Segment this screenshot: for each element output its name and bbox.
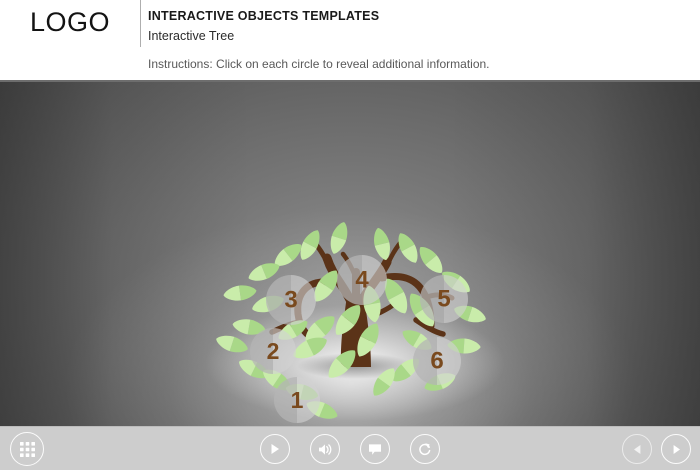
toolbar-center-group	[0, 427, 700, 470]
speech-bubble-icon	[368, 443, 382, 456]
play-button[interactable]	[260, 434, 290, 464]
page-title: INTERACTIVE OBJECTS TEMPLATES	[148, 6, 490, 26]
hotspot-5[interactable]: 5	[420, 275, 468, 323]
slide-stage: 1 2 3 4	[0, 82, 700, 426]
play-icon	[269, 443, 281, 455]
hotspot-label: 6	[430, 348, 443, 375]
next-arrow-icon	[671, 444, 682, 455]
volume-icon	[318, 443, 332, 456]
prev-button[interactable]	[622, 434, 652, 464]
header-text-block: INTERACTIVE OBJECTS TEMPLATES Interactiv…	[140, 0, 490, 75]
interactive-tree-graphic: 1 2 3 4	[0, 82, 700, 426]
logo-text: LOGO	[30, 9, 110, 38]
hotspot-label: 3	[284, 287, 297, 314]
hotspot-1[interactable]: 1	[274, 377, 320, 423]
hotspot-label: 5	[437, 286, 450, 313]
player-toolbar	[0, 426, 700, 470]
notes-button[interactable]	[360, 434, 390, 464]
hotspot-6[interactable]: 6	[413, 337, 461, 385]
hotspot-4[interactable]: 4	[337, 255, 387, 305]
replay-icon	[418, 442, 432, 456]
replay-button[interactable]	[410, 434, 440, 464]
course-player: LOGO INTERACTIVE OBJECTS TEMPLATES Inter…	[0, 0, 700, 470]
hotspot-2[interactable]: 2	[250, 328, 296, 374]
volume-button[interactable]	[310, 434, 340, 464]
logo: LOGO	[0, 0, 140, 47]
hotspot-label: 1	[291, 387, 304, 413]
instructions-text: Instructions: Click on each circle to re…	[148, 47, 490, 75]
hotspot-3[interactable]: 3	[266, 275, 316, 325]
header-divider	[140, 0, 141, 47]
hotspot-label: 4	[355, 267, 369, 294]
next-button[interactable]	[661, 434, 691, 464]
prev-arrow-icon	[632, 444, 643, 455]
page-subtitle: Interactive Tree	[148, 26, 490, 47]
page-header: LOGO INTERACTIVE OBJECTS TEMPLATES Inter…	[0, 0, 700, 82]
hotspot-label: 2	[267, 338, 280, 364]
toolbar-right-group	[622, 427, 691, 470]
